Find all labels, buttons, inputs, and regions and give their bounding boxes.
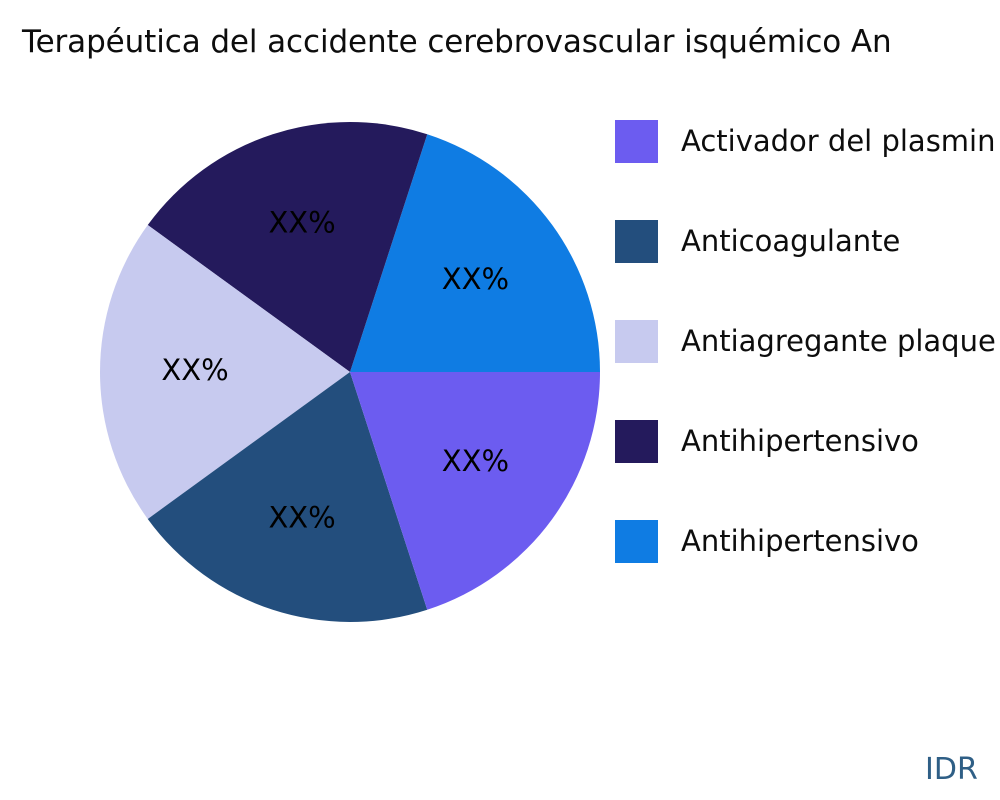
legend-color-swatch	[615, 420, 658, 463]
legend-color-swatch	[615, 520, 658, 563]
pie-slice-label: XX%	[442, 262, 509, 296]
pie-slice-label: XX%	[268, 206, 335, 240]
pie-svg: XX%XX%XX%XX%XX%	[0, 0, 700, 700]
pie-plot-area: XX%XX%XX%XX%XX%	[0, 0, 700, 700]
legend-item[interactable]: Antihipertensivo	[615, 520, 1000, 620]
legend-item[interactable]: Antihipertensivo	[615, 420, 1000, 520]
legend-item-label: Antihipertensivo	[681, 520, 919, 563]
pie-slice-label: XX%	[161, 353, 228, 387]
legend-item-label: Antiagregante plaque	[681, 320, 996, 363]
legend: Activador del plasminAnticoagulanteAntia…	[615, 120, 1000, 620]
legend-color-swatch	[615, 320, 658, 363]
legend-color-swatch	[615, 120, 658, 163]
pie-slice-label: XX%	[268, 500, 335, 534]
pie-chart-figure: Terapéutica del accidente cerebrovascula…	[0, 0, 1000, 800]
legend-item[interactable]: Anticoagulante	[615, 220, 1000, 320]
watermark-idr: IDR	[925, 752, 978, 787]
legend-color-swatch	[615, 220, 658, 263]
legend-item-label: Antihipertensivo	[681, 420, 919, 463]
legend-item-label: Anticoagulante	[681, 220, 900, 263]
legend-item[interactable]: Activador del plasmin	[615, 120, 1000, 220]
pie-slice-label: XX%	[442, 444, 509, 478]
legend-item-label: Activador del plasmin	[681, 120, 995, 163]
legend-item[interactable]: Antiagregante plaque	[615, 320, 1000, 420]
